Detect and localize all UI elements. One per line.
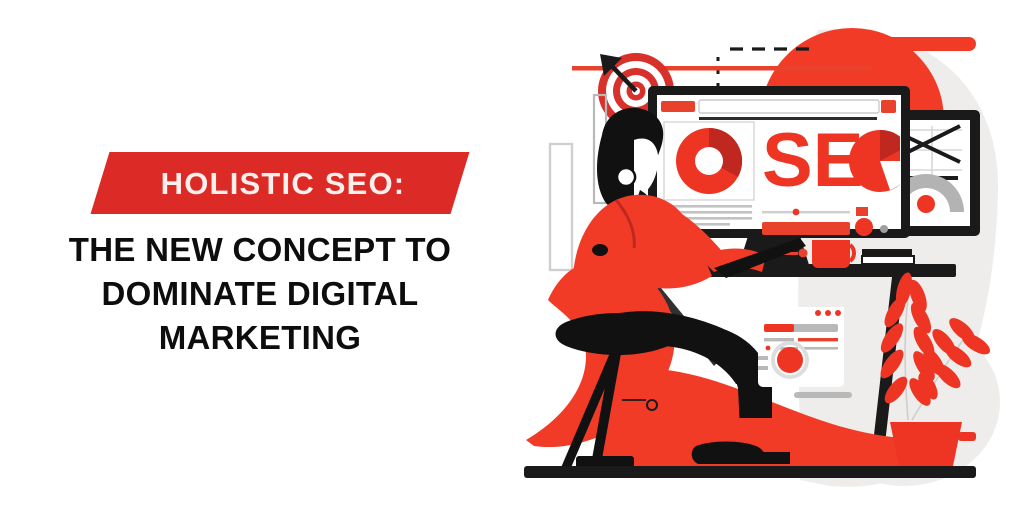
headline-line-1: THE NEW CONCEPT TO: [40, 228, 480, 272]
text-column: HOLISTIC SEO: THE NEW CONCEPT TO DOMINAT…: [0, 0, 500, 519]
headline-line-2: DOMINATE DIGITAL: [40, 272, 480, 316]
kicker-label: HOLISTIC SEO:: [100, 152, 460, 214]
seo-promo-banner: HOLISTIC SEO: THE NEW CONCEPT TO DOMINAT…: [0, 0, 1024, 519]
seo-illustration: SE: [500, 0, 1024, 519]
plant-pot: [890, 422, 962, 466]
page-title: THE NEW CONCEPT TO DOMINATE DIGITAL MARK…: [40, 228, 480, 361]
svg-text:SE: SE: [762, 118, 863, 203]
left-frame-outline: [550, 144, 572, 270]
books-icon: [862, 249, 914, 264]
floating-browser-card[interactable]: [752, 307, 852, 398]
browser-address-bar[interactable]: [657, 95, 901, 120]
headline-line-3: MARKETING: [40, 316, 480, 360]
donut-chart-icon: [676, 128, 742, 194]
kicker-banner: HOLISTIC SEO:: [100, 152, 460, 214]
floor-line: [524, 466, 976, 478]
